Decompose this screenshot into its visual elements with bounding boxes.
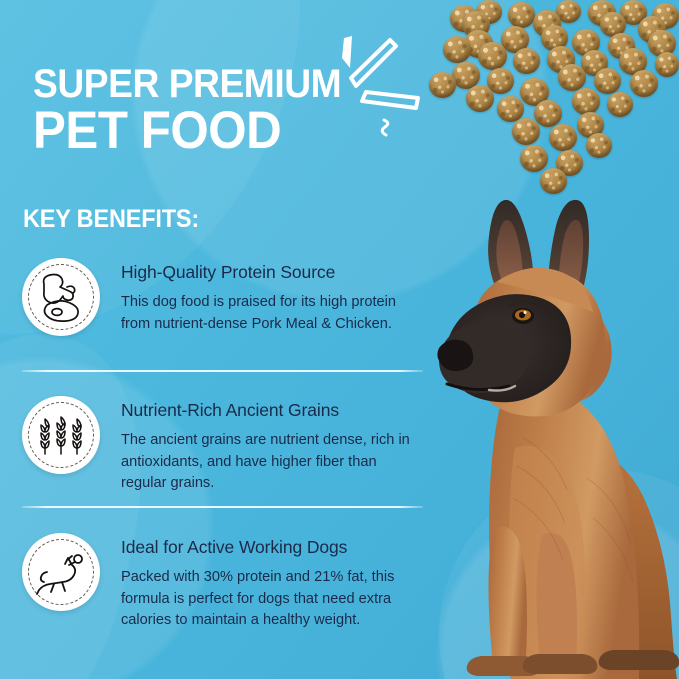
jumping-dog-icon — [22, 533, 100, 611]
benefit-item: High-Quality Protein Source This dog foo… — [0, 258, 450, 336]
benefit-title: Ideal for Active Working Dogs — [121, 537, 421, 558]
divider — [22, 506, 423, 508]
headline-line-2: PET FOOD — [33, 107, 368, 156]
belgian-malinois-photo — [437, 198, 679, 679]
benefit-body: The ancient grains are nutrient dense, r… — [121, 430, 421, 495]
benefit-title: Nutrient-Rich Ancient Grains — [121, 400, 421, 421]
benefit-title: High-Quality Protein Source — [121, 262, 421, 283]
headline-line-1: SUPER PREMIUM — [33, 66, 368, 103]
benefit-item: Nutrient-Rich Ancient Grains The ancient… — [0, 396, 450, 495]
meat-icon — [22, 258, 100, 336]
sparkle-burst-icon — [326, 28, 430, 138]
product-infographic: SUPER PREMIUM PET FOOD KEY BENEFITS: — [0, 0, 679, 679]
key-benefits-heading: KEY BENEFITS: — [23, 205, 199, 234]
benefit-item: Ideal for Active Working Dogs Packed wit… — [0, 533, 450, 632]
divider — [22, 370, 423, 372]
benefit-body: Packed with 30% protein and 21% fat, thi… — [121, 567, 421, 632]
benefit-body: This dog food is praised for its high pr… — [121, 292, 421, 335]
wheat-icon — [22, 396, 100, 474]
